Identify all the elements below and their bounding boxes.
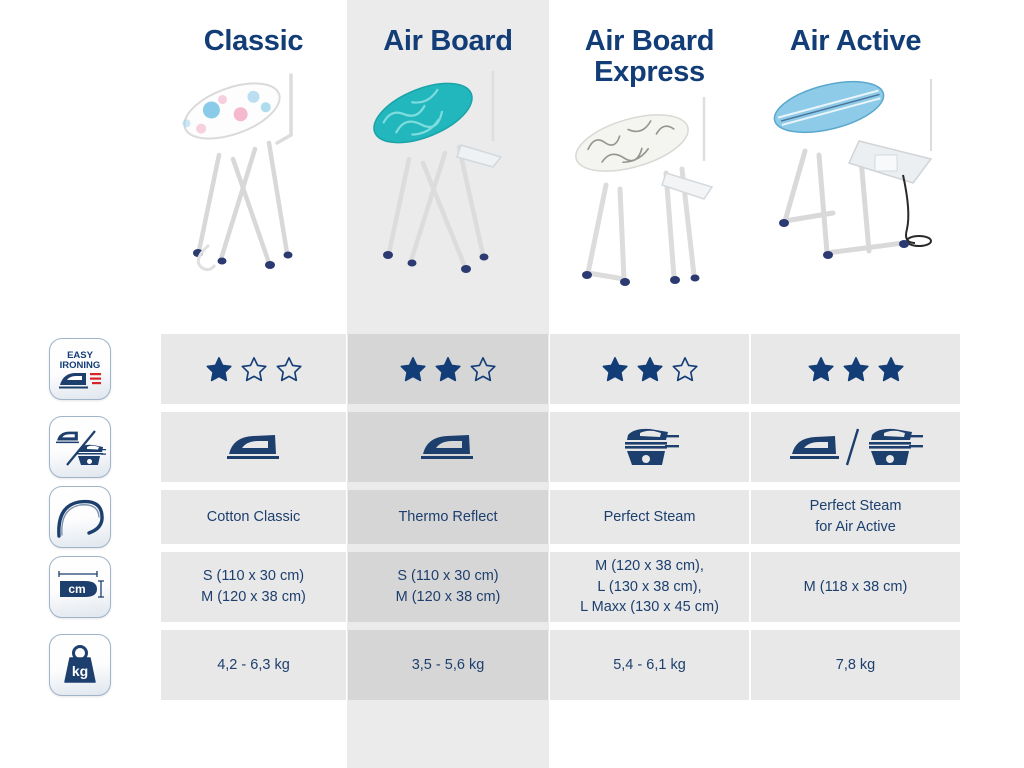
dimensions-cm-icon: cm [49, 556, 111, 618]
dimensions-cell-air-active: M (118 x 38 cm) [751, 552, 960, 622]
product-image-air-board [361, 63, 536, 283]
product-title-classic: Classic [204, 26, 303, 57]
comparison-table: Classic [0, 0, 1024, 768]
row-icon-cover [0, 486, 160, 548]
row-icon-weight: kg [0, 626, 160, 704]
steam-station-icon [865, 426, 923, 468]
product-title-air-active: Air Active [790, 26, 921, 57]
star-rating-classic [205, 356, 303, 383]
easy-ironing-label-line2: IRONING [60, 360, 101, 371]
comparison-grid: Classic [0, 0, 1024, 768]
iron-glyphs-air-active [789, 425, 923, 469]
iron-and-steam-station-icon [49, 416, 111, 478]
product-column-classic[interactable]: Classic [160, 0, 347, 330]
iron-type-cell-classic [161, 412, 346, 482]
easy-ironing-icon: EASY IRONING [49, 338, 111, 400]
product-title-air-board-express: Air Board Express [585, 26, 714, 89]
product-image-air-active [763, 63, 948, 268]
cover-cell-classic: Cotton Classic [161, 490, 346, 544]
product-column-air-board[interactable]: Air Board [347, 0, 549, 330]
product-image-classic [169, 63, 339, 283]
dimensions-cm-label: cm [68, 582, 85, 596]
iron-icon [420, 430, 476, 464]
product-title-air-board: Air Board [383, 26, 512, 57]
iron-glyphs-air-board-express [621, 426, 679, 468]
weight-cell-air-board: 3,5 - 5,6 kg [348, 630, 548, 700]
product-image-air-board-express [562, 95, 737, 295]
star-rating-air-board [399, 356, 497, 383]
row-icon-dimensions: cm [0, 548, 160, 626]
cover-cell-air-board: Thermo Reflect [348, 490, 548, 544]
weight-kg-icon: kg [49, 634, 111, 696]
star-rating-air-board-express [601, 356, 699, 383]
weight-cell-classic: 4,2 - 6,3 kg [161, 630, 346, 700]
ironing-board-cover-icon [49, 486, 111, 548]
dimensions-cell-classic: S (110 x 30 cm) M (120 x 38 cm) [161, 552, 346, 622]
weight-kg-label: kg [72, 663, 88, 679]
cover-cell-air-active: Perfect Steam for Air Active [751, 490, 960, 544]
iron-type-cell-air-active [751, 412, 960, 482]
stars-cell-air-active [751, 334, 960, 404]
weight-cell-air-board-express: 5,4 - 6,1 kg [550, 630, 749, 700]
cover-cell-air-board-express: Perfect Steam [550, 490, 749, 544]
iron-glyphs-classic [226, 430, 282, 464]
iron-type-cell-air-board-express [550, 412, 749, 482]
stars-cell-air-board-express [550, 334, 749, 404]
stars-cell-classic [161, 334, 346, 404]
iron-glyphs-air-board [420, 430, 476, 464]
weight-cell-air-active: 7,8 kg [751, 630, 960, 700]
row-icon-iron-type [0, 408, 160, 486]
dimensions-cell-air-board: S (110 x 30 cm) M (120 x 38 cm) [348, 552, 548, 622]
star-rating-air-active [807, 356, 905, 383]
steam-station-icon [621, 426, 679, 468]
dimensions-cell-air-board-express: M (120 x 38 cm), L (130 x 38 cm), L Maxx… [550, 552, 749, 622]
stars-cell-air-board [348, 334, 548, 404]
iron-icon [226, 430, 282, 464]
product-column-air-board-express[interactable]: Air Board Express [549, 0, 750, 330]
iron-icon [789, 430, 841, 464]
product-column-air-active[interactable]: Air Active [750, 0, 961, 330]
iron-type-cell-air-board [348, 412, 548, 482]
slash-divider-icon [843, 425, 863, 469]
header-corner-spacer [0, 0, 160, 330]
row-icon-easy-ironing: EASY IRONING [0, 330, 160, 408]
